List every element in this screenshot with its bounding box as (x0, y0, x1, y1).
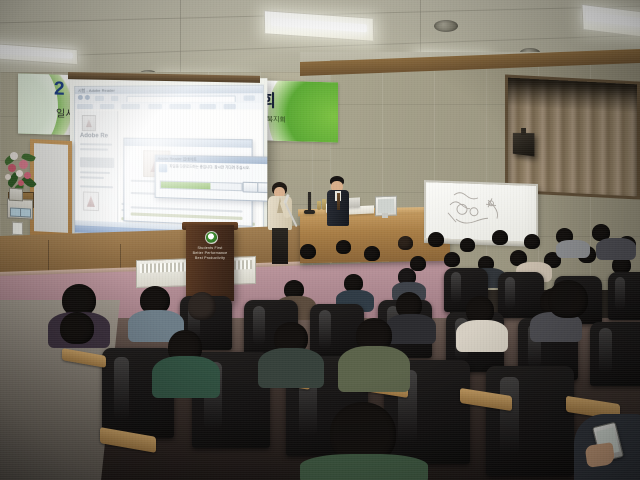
water-bottle (322, 199, 326, 210)
flower (10, 152, 18, 160)
podium: Students First Better Performance Best P… (186, 225, 234, 301)
audience-shoulders (386, 314, 436, 344)
progress-bar-fill (161, 182, 210, 190)
seat-cushion (481, 362, 579, 419)
wall-speaker-icon (513, 133, 535, 157)
toolbar-button (95, 95, 104, 100)
audience-shoulders (152, 356, 220, 398)
menu-item (148, 103, 162, 108)
progress-bar (160, 180, 243, 191)
download-icon (159, 164, 167, 172)
whiteboard-surface (34, 143, 68, 233)
auditorium-photo: 2 술대회 일시 대구경북지회 시험 - Adobe Reader (0, 0, 640, 480)
toolbar-button (112, 95, 119, 100)
legs (272, 228, 288, 264)
audience-shoulders (338, 346, 410, 392)
audience-head (428, 232, 444, 247)
audience-shoulders (258, 348, 324, 388)
audience-head (364, 246, 380, 261)
text-line (131, 206, 243, 212)
audience-head-foreground (548, 280, 588, 318)
menu-item (76, 103, 92, 108)
presenter-moderator (327, 176, 351, 228)
progress-message: 파일을 다운로드하는 중입니다. 잠시만 기다려 주십시오. (169, 164, 267, 170)
seat-highlight (114, 357, 130, 420)
seat-highlight (505, 277, 515, 309)
audience-shoulders (300, 454, 428, 480)
seat-highlight (253, 306, 265, 345)
dialog-title-bar (124, 139, 251, 148)
projected-application-window: 시험 - Adobe Reader (74, 85, 264, 243)
flower (19, 160, 28, 169)
menu-item (224, 103, 236, 108)
banner-white-swoosh (18, 74, 58, 143)
speaker-bracket (521, 128, 526, 135)
flower (16, 170, 23, 177)
auditorium-seat (498, 272, 544, 318)
progress-dialog-title: Adobe Reader 업데이트 (156, 156, 268, 165)
audience-head (524, 234, 540, 249)
water-bottle (317, 201, 321, 210)
monitor-screen (378, 199, 394, 214)
seat-cushion (239, 296, 303, 325)
audience-head (492, 230, 508, 245)
audience-head (188, 292, 216, 320)
presenter-speaker (268, 182, 294, 266)
text-line (80, 143, 112, 145)
nav-back-icon (78, 95, 83, 100)
menu-item (199, 103, 215, 108)
audience-head (444, 252, 460, 267)
adobe-reader-icon (82, 115, 96, 131)
download-progress-dialog[interactable]: Adobe Reader 업데이트 파일을 다운로드하는 중입니다. 잠시만 기… (155, 155, 268, 202)
audience-shoulders (556, 240, 590, 258)
wall-outlet (12, 222, 23, 236)
monitor-stand (382, 213, 388, 218)
ceiling-speaker-icon (434, 20, 458, 32)
cancel-button[interactable] (257, 182, 267, 193)
pdf-document-icon (83, 191, 99, 211)
menu-item (100, 103, 114, 108)
flower (18, 180, 24, 186)
menu-item (170, 103, 191, 108)
reader-sidebar: Adobe Re (77, 111, 118, 226)
microphone-stand (308, 192, 311, 212)
seat-highlight (599, 328, 612, 373)
nav-forward-icon (85, 95, 90, 100)
seat-highlight (319, 310, 331, 349)
seat-highlight (451, 272, 461, 303)
audience-head (398, 236, 413, 250)
text-line (80, 185, 113, 188)
toolbar-button (244, 95, 255, 100)
audience-head (460, 238, 475, 252)
app-content-area: Adobe Re (75, 109, 263, 235)
flower (8, 164, 16, 172)
auditorium-seat (486, 366, 574, 476)
reader-product-name: Adobe Re (80, 133, 108, 139)
menu-item (122, 103, 141, 108)
text-line (131, 212, 243, 220)
seat-highlight (615, 277, 625, 311)
podium-motto-line3: Best Productivity (186, 256, 234, 261)
seat-cushion (585, 318, 640, 351)
auditorium-seat (590, 322, 640, 386)
whiteboard-drawing (426, 182, 536, 242)
banner-title-left: 2 (54, 79, 65, 101)
wall-thermostat[interactable] (9, 188, 23, 202)
text-line (80, 171, 110, 174)
seat-highlight (500, 377, 519, 454)
microphone-base (304, 210, 315, 214)
university-emblem-icon (205, 231, 218, 244)
audience-shoulders (456, 320, 508, 352)
auditorium-seat (608, 272, 640, 320)
control-switch[interactable] (20, 208, 31, 218)
text-line (80, 176, 104, 179)
flower (24, 172, 31, 179)
curtain-shadow (508, 78, 637, 114)
audience-head (300, 244, 316, 259)
text-line (80, 148, 108, 150)
text-line (80, 157, 114, 168)
audience-shoulders (596, 238, 636, 260)
wall-control-panel[interactable] (7, 198, 33, 219)
ok-button[interactable] (243, 182, 259, 193)
necktie (337, 193, 340, 210)
audience-head (60, 312, 94, 344)
flower (5, 174, 11, 180)
banner-green-swoosh (268, 74, 338, 143)
audience-head (336, 240, 351, 254)
